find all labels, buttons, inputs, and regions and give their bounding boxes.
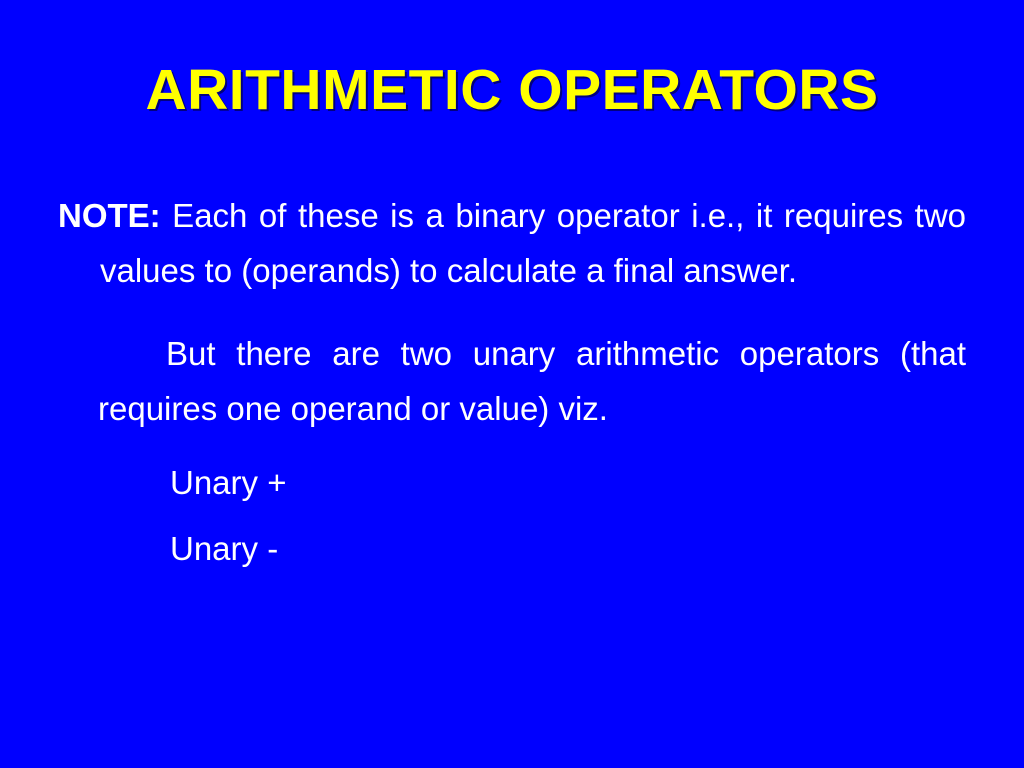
page-title: ARITHMETIC OPERATORS <box>145 58 878 122</box>
title-container: ARITHMETIC OPERATORS <box>0 58 1024 122</box>
slide-body: NOTE: Each of these is a binary operator… <box>58 188 966 582</box>
slide: ARITHMETIC OPERATORS NOTE: Each of these… <box>0 0 1024 768</box>
list-item: Unary + <box>58 450 966 516</box>
unary-operator-list: Unary + Unary - <box>58 450 966 582</box>
paragraph-note: NOTE: Each of these is a binary operator… <box>58 188 966 298</box>
paragraph-unary-intro: But there are two unary arithmetic opera… <box>58 326 966 436</box>
note-label: NOTE: <box>58 197 161 234</box>
note-body-text: Each of these is a binary operator i.e.,… <box>100 197 966 289</box>
list-item: Unary - <box>58 516 966 582</box>
